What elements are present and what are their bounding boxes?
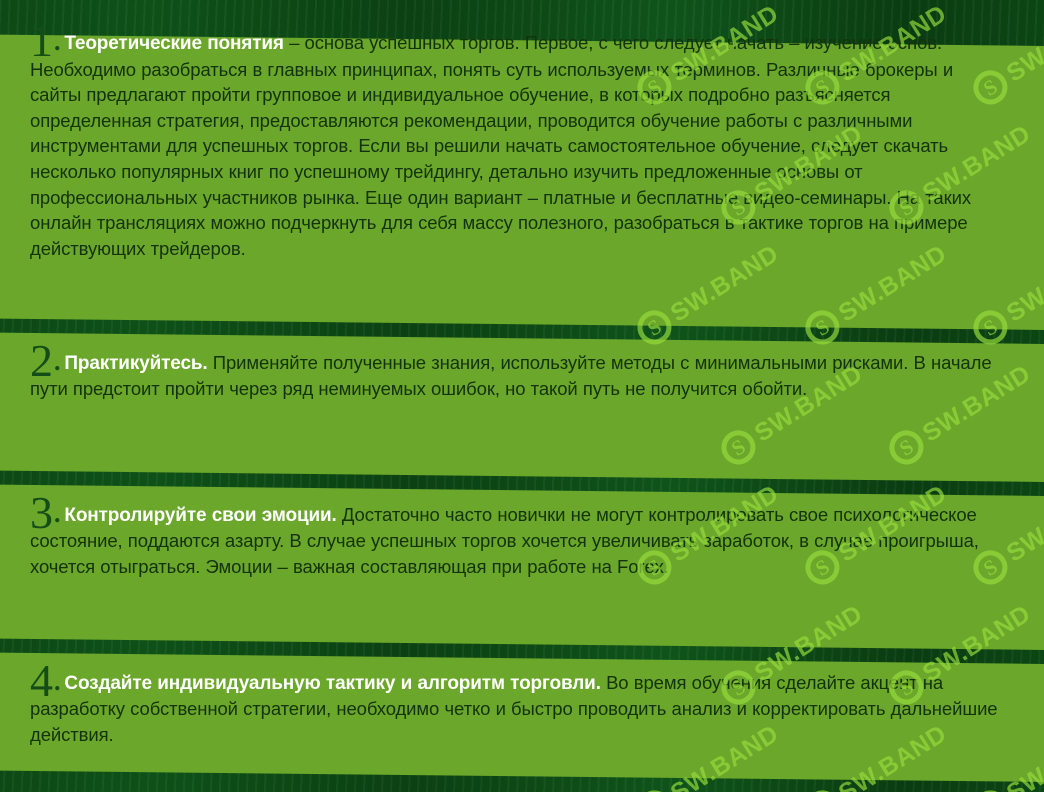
tip-number-dot: . <box>54 27 64 56</box>
infographic-slide: 1.Теоретические понятия – основа успешны… <box>0 0 1044 792</box>
separator-band-1 <box>0 318 1044 345</box>
tip-number: 4 <box>30 655 54 706</box>
tip-number: 3 <box>30 487 54 538</box>
separator-band-2 <box>0 470 1044 497</box>
tip-section-2: 2.Практикуйтесь. Применяйте полученные з… <box>0 348 1044 402</box>
tip-section-1: 1.Теоретические понятия – основа успешны… <box>0 28 1044 261</box>
tip-number: 1 <box>30 15 54 66</box>
tip-number-dot: . <box>54 499 64 528</box>
tip-paragraph: 1.Теоретические понятия – основа успешны… <box>30 28 1008 261</box>
tip-body-text: – основа успешных торгов. Первое, с чего… <box>30 32 971 259</box>
separator-band-3 <box>0 638 1044 665</box>
tip-lead-heading: Практикуйтесь. <box>64 353 207 374</box>
tip-paragraph: 2.Практикуйтесь. Применяйте полученные з… <box>30 348 1008 402</box>
tip-lead-heading: Контролируйте свои эмоции. <box>64 505 336 526</box>
tip-paragraph: 4.Создайте индивидуальную тактику и алго… <box>30 668 1008 747</box>
tip-lead-heading: Теоретические понятия <box>64 33 283 54</box>
sw-band-logo-icon: S <box>883 424 930 471</box>
tip-section-3: 3.Контролируйте свои эмоции. Достаточно … <box>0 500 1044 579</box>
bottom-diagonal-band <box>0 770 1044 792</box>
tip-paragraph: 3.Контролируйте свои эмоции. Достаточно … <box>30 500 1008 579</box>
tip-number-dot: . <box>54 347 64 376</box>
tip-lead-heading: Создайте индивидуальную тактику и алгори… <box>64 673 600 694</box>
sw-band-logo-icon: S <box>715 424 762 471</box>
tip-number: 2 <box>30 335 54 386</box>
tip-number-dot: . <box>54 667 64 696</box>
tip-section-4: 4.Создайте индивидуальную тактику и алго… <box>0 668 1044 747</box>
